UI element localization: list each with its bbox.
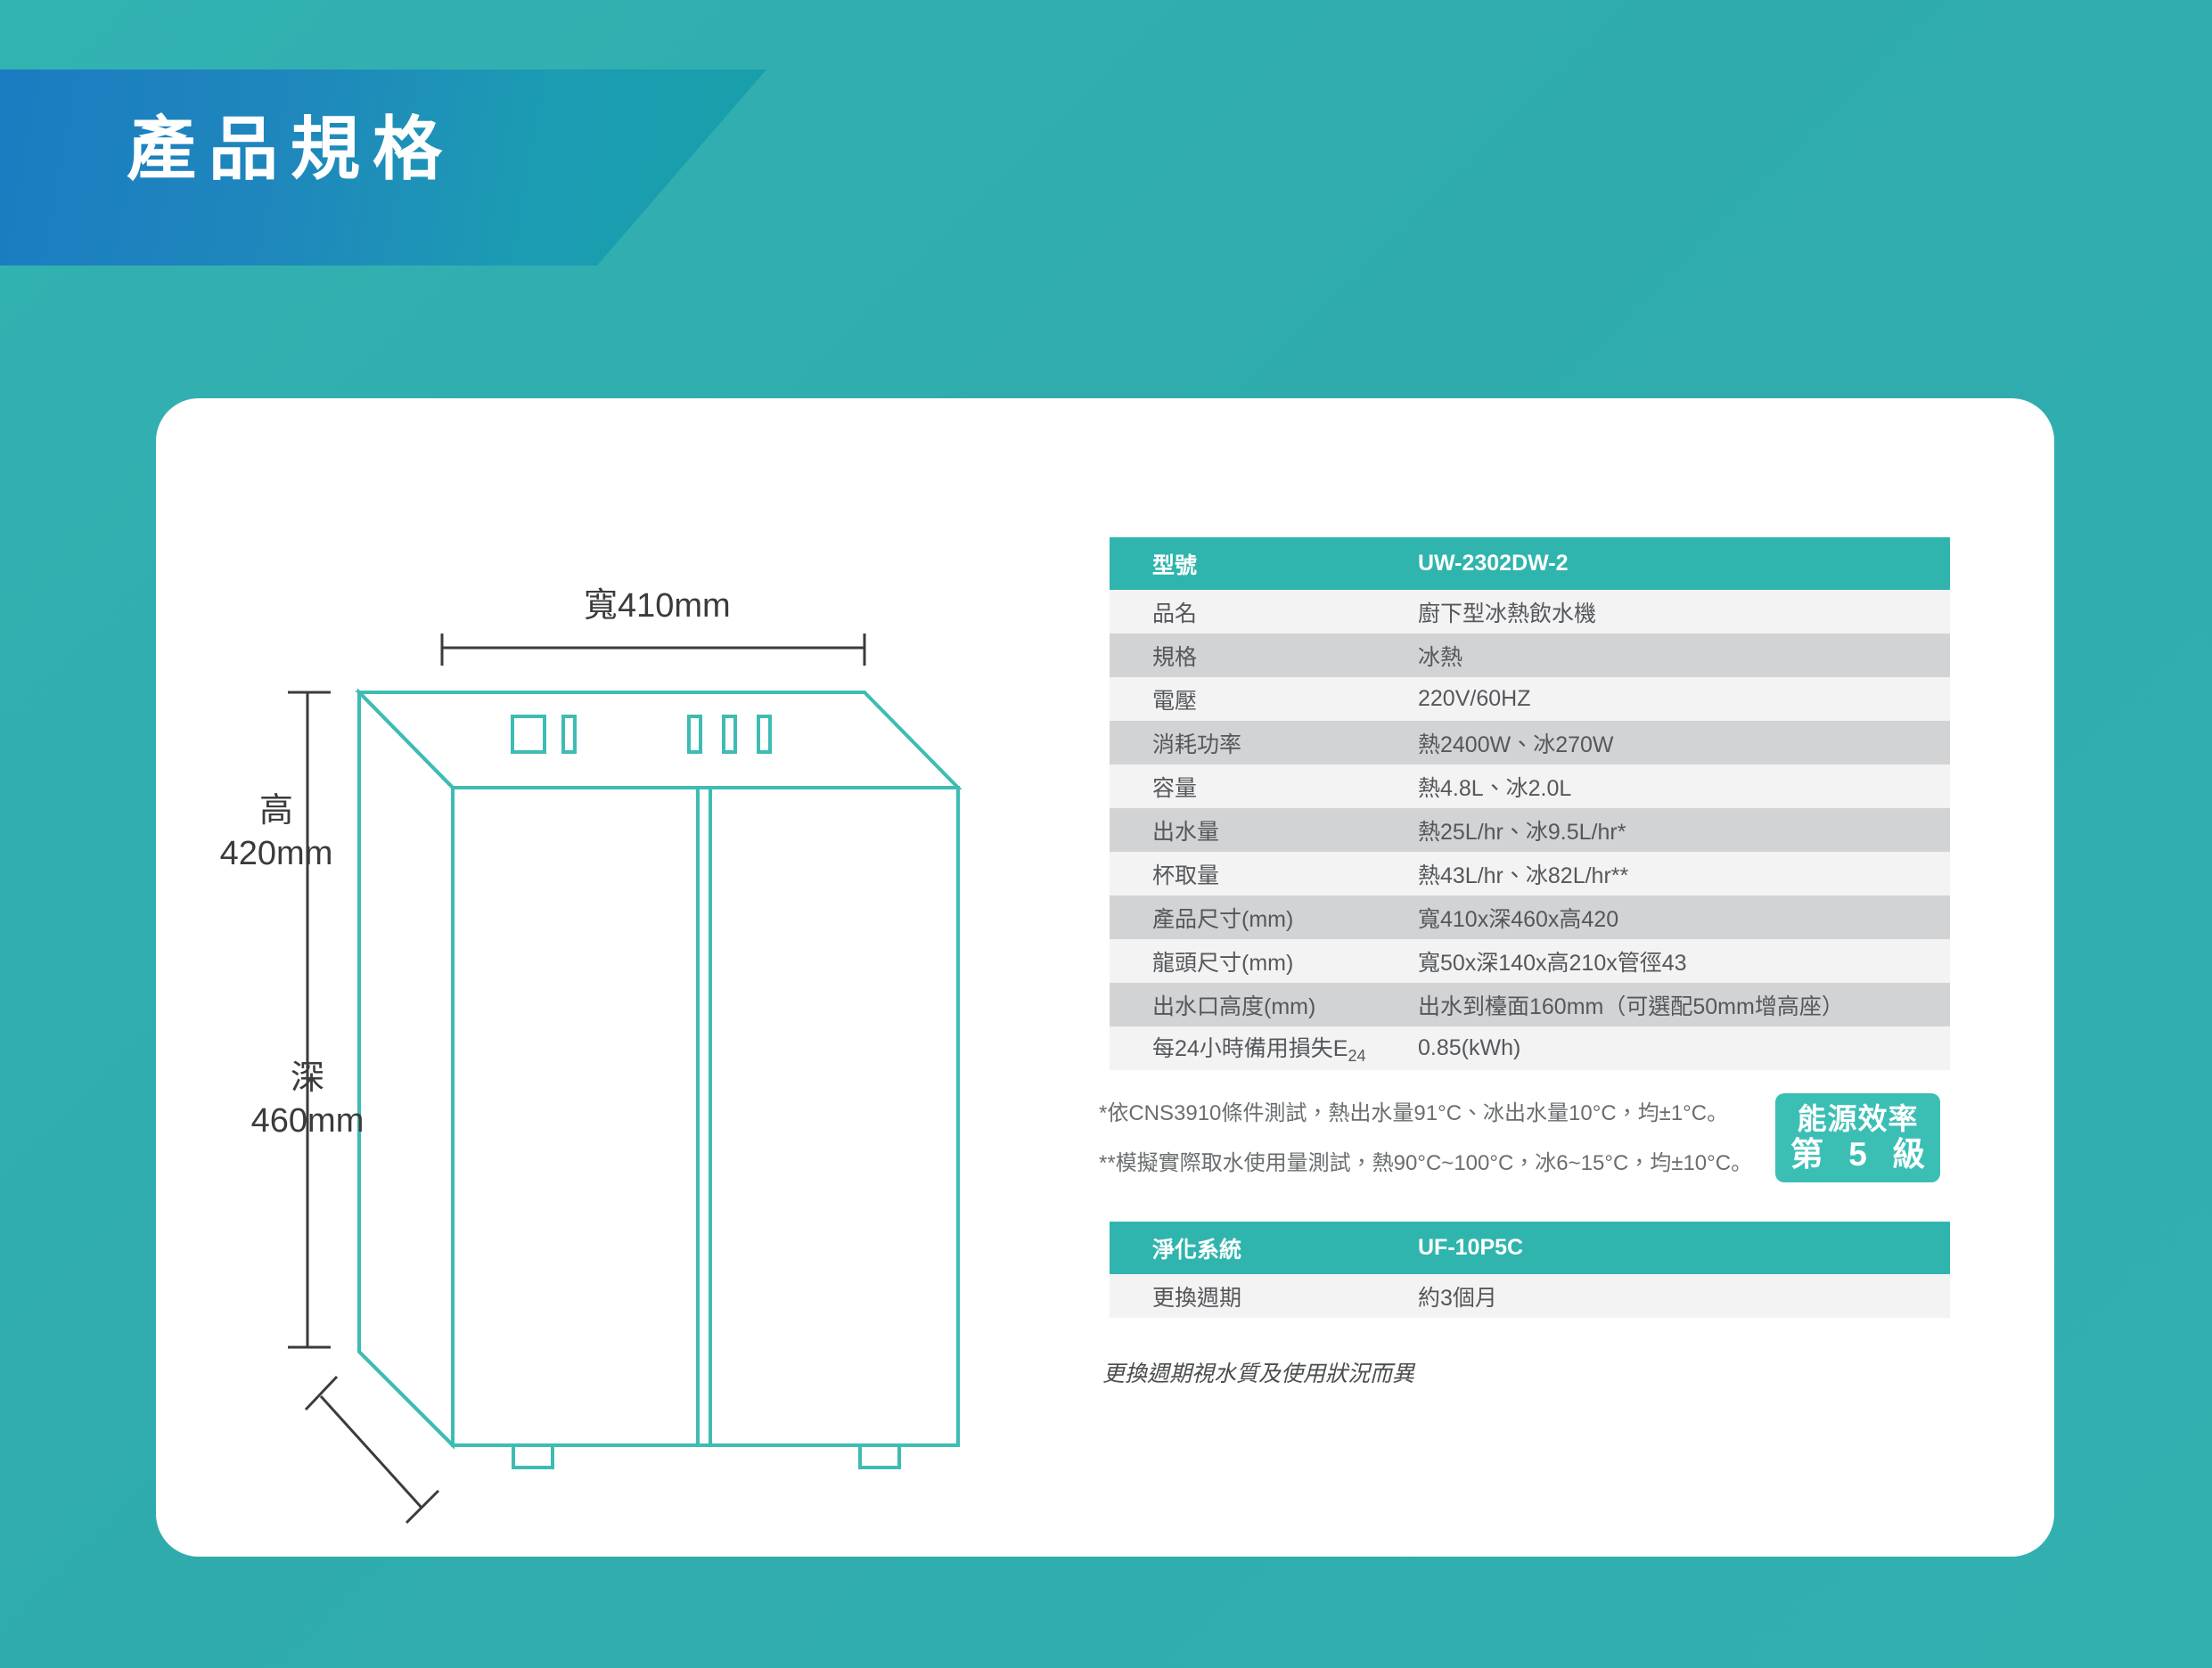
content-card: 寬410mm 高 420mm 深 460mm 型號UW-2302DW-2品名廚下…	[156, 398, 2054, 1557]
table-row: 品名廚下型冰熱飲水機	[1110, 590, 1950, 634]
table-row: 產品尺寸(mm)寬410x深460x高420	[1110, 895, 1950, 939]
diagram-svg	[156, 398, 1136, 1557]
table-row: 出水口高度(mm)出水到檯面160mm（可選配50mm增高座）	[1110, 983, 1950, 1026]
product-spec-page: 產品規格	[0, 0, 2212, 1668]
row-label: 產品尺寸(mm)	[1110, 895, 1404, 939]
row-value: 寬410x深460x高420	[1404, 895, 1950, 939]
product-wireframe	[359, 692, 958, 1468]
page-title: 產品規格	[127, 114, 455, 184]
row-label: 消耗功率	[1110, 721, 1404, 764]
row-value: 熱43L/hr、冰82L/hr**	[1404, 852, 1950, 895]
table-row: 規格冰熱	[1110, 634, 1950, 677]
table-header-value: UW-2302DW-2	[1404, 537, 1950, 590]
row-value: 熱25L/hr、冰9.5L/hr*	[1404, 808, 1950, 852]
table-header-row: 淨化系統UF-10P5C	[1110, 1222, 1950, 1274]
row-value: 冰熱	[1404, 634, 1950, 677]
specification-table: 型號UW-2302DW-2品名廚下型冰熱飲水機規格冰熱電壓220V/60HZ消耗…	[1110, 537, 1950, 1070]
depth-dimension-line	[306, 1377, 438, 1523]
footnote-double-asterisk: **模擬實際取水使用量測試，熱90°C~100°C，冰6~15°C，均±10°C…	[1099, 1145, 1752, 1176]
depth-label-line1: 深	[196, 1058, 419, 1100]
row-value: 熱2400W、冰270W	[1404, 721, 1950, 764]
row-label: 品名	[1110, 590, 1404, 634]
height-dimension-label: 高 420mm	[165, 790, 388, 875]
row-label: 出水口高度(mm)	[1110, 983, 1404, 1026]
depth-dimension-label: 深 460mm	[196, 1058, 419, 1142]
table-header-label: 淨化系統	[1110, 1222, 1404, 1274]
table-row: 容量熱4.8L、冰2.0L	[1110, 764, 1950, 808]
width-dimension-line	[442, 634, 864, 666]
row-value: 廚下型冰熱飲水機	[1404, 590, 1950, 634]
table-header-value: UF-10P5C	[1404, 1222, 1950, 1274]
height-label-line1: 高	[165, 790, 388, 833]
table-header-label: 型號	[1110, 537, 1404, 590]
title-banner: 產品規格	[0, 69, 766, 266]
table-row: 電壓220V/60HZ	[1110, 677, 1950, 721]
row-label-subscript: 24	[1348, 1047, 1365, 1065]
row-label: 杯取量	[1110, 852, 1404, 895]
row-value: 出水到檯面160mm（可選配50mm增高座）	[1404, 983, 1950, 1026]
table-row: 每24小時備用損失E240.85(kWh)	[1110, 1026, 1950, 1070]
filter-replacement-note: 更換週期視水質及使用狀況而異	[1102, 1356, 1414, 1388]
row-label: 容量	[1110, 764, 1404, 808]
table-row: 消耗功率熱2400W、冰270W	[1110, 721, 1950, 764]
depth-label-line2: 460mm	[196, 1100, 419, 1143]
table-row: 出水量熱25L/hr、冰9.5L/hr*	[1110, 808, 1950, 852]
width-dimension-label: 寬410mm	[584, 585, 731, 628]
table-row: 杯取量熱43L/hr、冰82L/hr**	[1110, 852, 1950, 895]
row-label: 規格	[1110, 634, 1404, 677]
energy-badge-grade: 第 5 級	[1782, 1136, 1933, 1174]
row-value: 熱4.8L、冰2.0L	[1404, 764, 1950, 808]
height-label-line2: 420mm	[165, 833, 388, 876]
row-label: 每24小時備用損失E24	[1110, 1026, 1404, 1070]
row-value: 約3個月	[1404, 1274, 1950, 1318]
energy-efficiency-badge: 能源效率 第 5 級	[1775, 1093, 1940, 1182]
row-label: 電壓	[1110, 677, 1404, 721]
product-dimension-diagram: 寬410mm 高 420mm 深 460mm	[156, 398, 1136, 1557]
row-label: 出水量	[1110, 808, 1404, 852]
table-row: 更換週期約3個月	[1110, 1274, 1950, 1318]
row-label: 更換週期	[1110, 1274, 1404, 1318]
filter-system-table: 淨化系統UF-10P5C更換週期約3個月	[1110, 1222, 1950, 1318]
row-label: 龍頭尺寸(mm)	[1110, 939, 1404, 983]
energy-badge-title: 能源效率	[1798, 1102, 1919, 1136]
footnote-single-asterisk: *依CNS3910條件測試，熱出水量91°C、冰出水量10°C，均±1°C。	[1099, 1095, 1728, 1126]
table-header-row: 型號UW-2302DW-2	[1110, 537, 1950, 590]
row-value: 220V/60HZ	[1404, 677, 1950, 721]
row-value: 0.85(kWh)	[1404, 1026, 1950, 1070]
table-row: 龍頭尺寸(mm)寬50x深140x高210x管徑43	[1110, 939, 1950, 983]
row-value: 寬50x深140x高210x管徑43	[1404, 939, 1950, 983]
